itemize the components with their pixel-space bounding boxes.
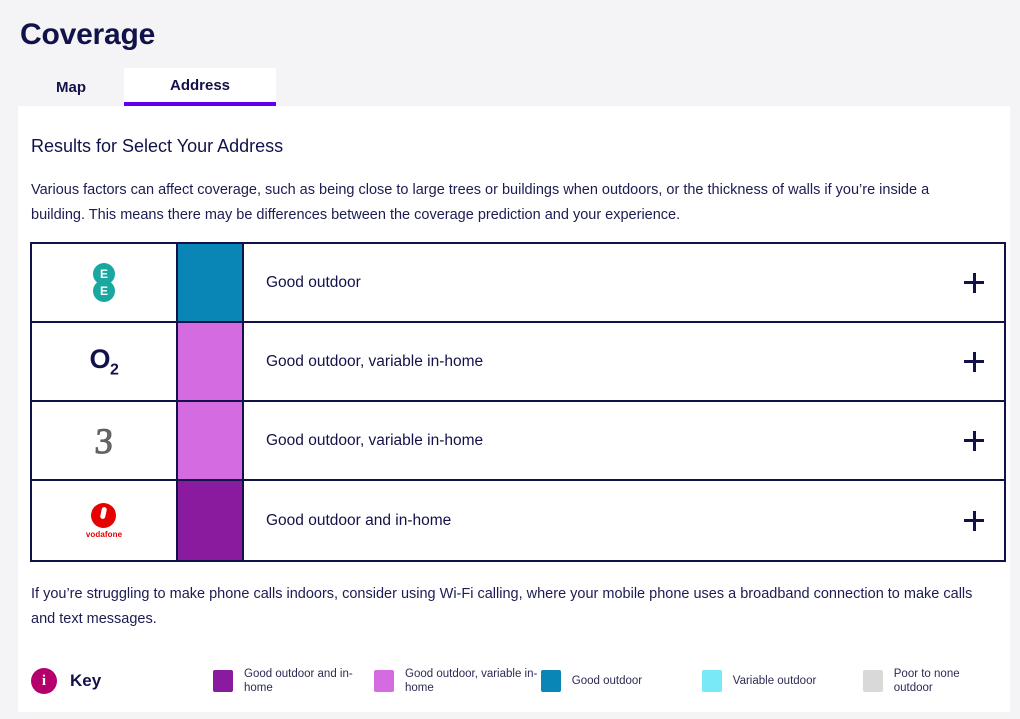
legend-label: Variable outdoor bbox=[733, 674, 817, 688]
tab-address[interactable]: Address bbox=[124, 68, 276, 106]
vodafone-logo-icon: vodafone bbox=[86, 503, 122, 539]
expand-button[interactable] bbox=[944, 481, 1004, 560]
coverage-key: i Key Good outdoor and in-home Good outd… bbox=[31, 658, 996, 704]
legend-swatch bbox=[374, 670, 394, 692]
page-title: Coverage bbox=[20, 18, 155, 52]
coverage-swatch bbox=[178, 481, 244, 560]
legend-item: Poor to none outdoor bbox=[863, 667, 996, 695]
legend-label: Good outdoor bbox=[572, 674, 642, 688]
intro-text: Various factors can affect coverage, suc… bbox=[31, 178, 981, 228]
table-row[interactable]: O2 Good outdoor, variable in-home bbox=[32, 323, 1004, 402]
legend-label: Poor to none outdoor bbox=[894, 667, 996, 695]
vodafone-mark-icon bbox=[91, 503, 116, 528]
ee-logo-icon: E E bbox=[93, 263, 115, 303]
coverage-status: Good outdoor and in-home bbox=[244, 481, 944, 560]
operator-logo-cell: vodafone bbox=[32, 481, 178, 560]
tab-bar: Map Address bbox=[18, 68, 276, 106]
o2-logo-icon: O2 bbox=[90, 344, 119, 379]
expand-button[interactable] bbox=[944, 323, 1004, 400]
operator-logo-cell: 3 bbox=[32, 402, 178, 479]
plus-icon[interactable] bbox=[964, 511, 984, 531]
table-row[interactable]: 3 Good outdoor, variable in-home bbox=[32, 402, 1004, 481]
legend-swatch bbox=[541, 670, 561, 692]
legend-items: Good outdoor and in-home Good outdoor, v… bbox=[213, 667, 996, 695]
legend-item: Variable outdoor bbox=[702, 670, 863, 692]
legend-swatch bbox=[213, 670, 233, 692]
coverage-status: Good outdoor bbox=[244, 244, 944, 321]
legend-label: Good outdoor, variable in-home bbox=[405, 667, 541, 695]
o2-logo-subscript: 2 bbox=[110, 361, 118, 378]
wifi-calling-note: If you’re struggling to make phone calls… bbox=[31, 582, 996, 632]
plus-icon[interactable] bbox=[964, 431, 984, 451]
ee-logo-letter-bottom: E bbox=[93, 280, 115, 302]
coverage-swatch bbox=[178, 244, 244, 321]
results-table: E E Good outdoor O2 Good outdoor, variab… bbox=[30, 242, 1006, 562]
content-panel: Results for Select Your Address Various … bbox=[18, 106, 1010, 712]
legend-swatch bbox=[702, 670, 722, 692]
coverage-page: Coverage Map Address Results for Select … bbox=[0, 0, 1020, 719]
legend-swatch bbox=[863, 670, 883, 692]
table-row[interactable]: E E Good outdoor bbox=[32, 244, 1004, 323]
results-heading: Results for Select Your Address bbox=[31, 136, 283, 157]
three-logo-icon: 3 bbox=[94, 423, 115, 459]
legend-item: Good outdoor, variable in-home bbox=[374, 667, 541, 695]
coverage-status: Good outdoor, variable in-home bbox=[244, 323, 944, 400]
coverage-status: Good outdoor, variable in-home bbox=[244, 402, 944, 479]
expand-button[interactable] bbox=[944, 244, 1004, 321]
o2-logo-text: O bbox=[90, 344, 111, 374]
table-row[interactable]: vodafone Good outdoor and in-home bbox=[32, 481, 1004, 560]
plus-icon[interactable] bbox=[964, 273, 984, 293]
legend-label: Good outdoor and in-home bbox=[244, 667, 374, 695]
coverage-swatch bbox=[178, 323, 244, 400]
key-label-group: i Key bbox=[31, 668, 213, 694]
tab-map[interactable]: Map bbox=[18, 68, 124, 106]
expand-button[interactable] bbox=[944, 402, 1004, 479]
legend-item: Good outdoor and in-home bbox=[213, 667, 374, 695]
vodafone-logo-text: vodafone bbox=[86, 531, 122, 539]
plus-icon[interactable] bbox=[964, 352, 984, 372]
operator-logo-cell: E E bbox=[32, 244, 178, 321]
legend-item: Good outdoor bbox=[541, 670, 702, 692]
operator-logo-cell: O2 bbox=[32, 323, 178, 400]
key-label: Key bbox=[70, 671, 101, 691]
info-icon[interactable]: i bbox=[31, 668, 57, 694]
coverage-swatch bbox=[178, 402, 244, 479]
